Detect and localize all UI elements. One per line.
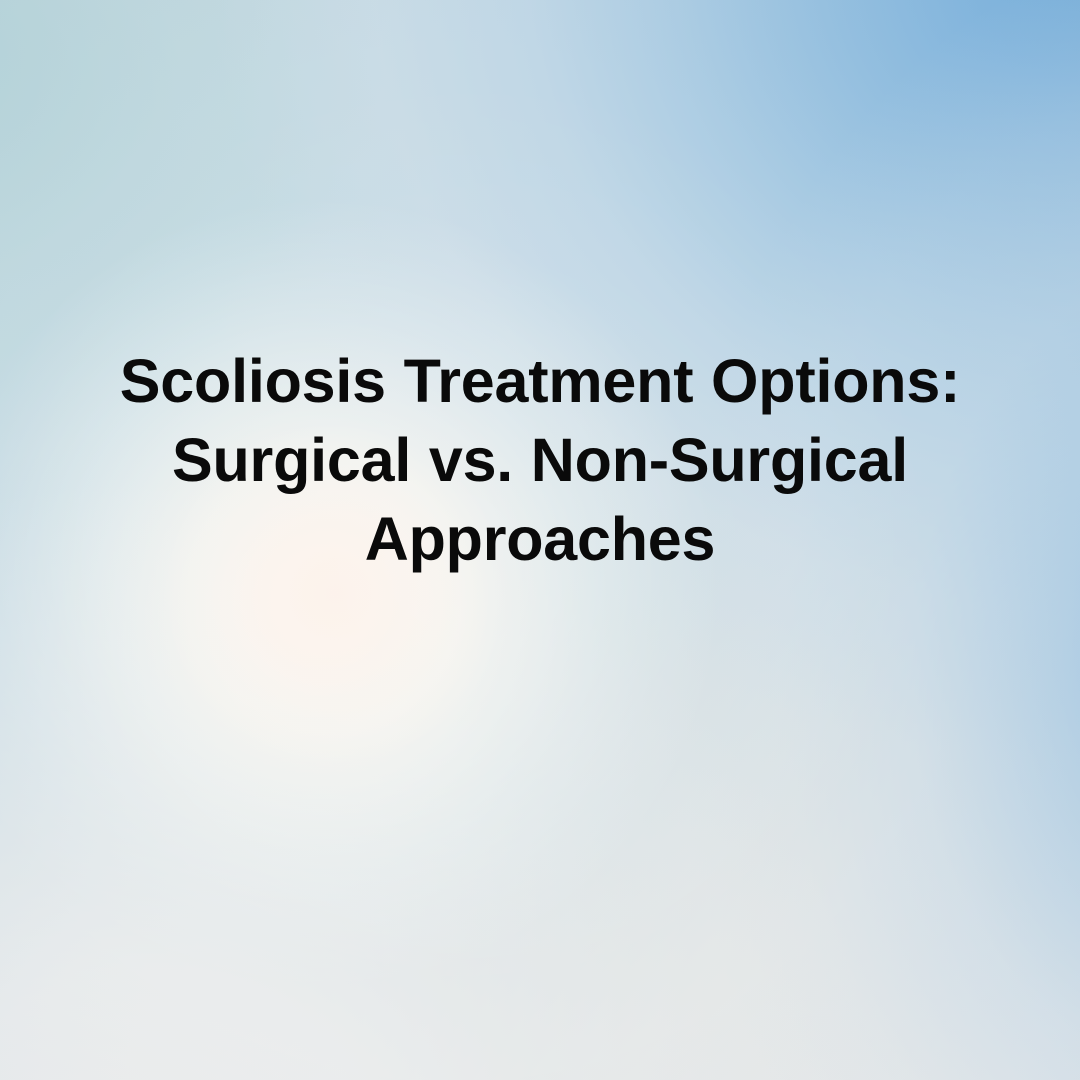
headline-block: Scoliosis Treatment Options: Surgical vs…	[0, 0, 1080, 1080]
title-card-canvas: Scoliosis Treatment Options: Surgical vs…	[0, 0, 1080, 1080]
page-title: Scoliosis Treatment Options: Surgical vs…	[90, 342, 990, 579]
headline-line-1: Scoliosis Treatment Options:	[90, 342, 990, 421]
headline-line-2: Surgical vs. Non-Surgical	[90, 421, 990, 500]
headline-line-3: Approaches	[90, 500, 990, 579]
